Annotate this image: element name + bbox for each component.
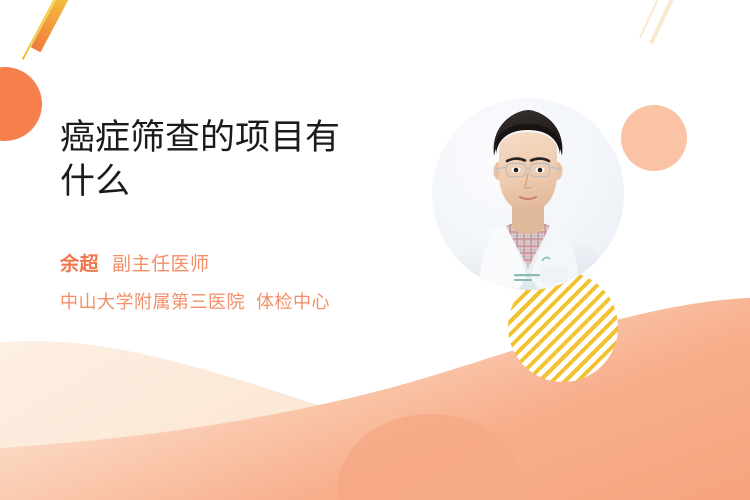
doctor-rank: 副主任医师 xyxy=(112,249,210,276)
cream-stripe-decor-a xyxy=(649,0,676,44)
peach-circle-decor xyxy=(621,105,687,171)
doctor-info-card: 癌症筛查的项目有 什么 余超 副主任医师 中山大学附属第三医院 体检中心 xyxy=(0,0,750,500)
portrait-circle-frame xyxy=(432,98,624,290)
outlined-bar-decor xyxy=(150,361,171,397)
department-name: 体检中心 xyxy=(256,288,330,314)
hospital-name: 中山大学附属第三医院 xyxy=(60,288,245,314)
page-title: 癌症筛查的项目有 什么 xyxy=(60,116,410,204)
portrait-illustration xyxy=(432,98,624,290)
doctor-portrait xyxy=(432,98,624,290)
doctor-name: 余超 xyxy=(60,249,99,276)
orange-diagonal-bar-decor xyxy=(31,0,75,52)
cream-stripe-decor-b xyxy=(639,0,663,38)
doctor-affiliation: 中山大学附属第三医院 体检中心 xyxy=(60,288,330,314)
yellow-thin-line-decor xyxy=(22,0,60,60)
orange-circle-decor xyxy=(0,67,42,141)
bottom-wave-back xyxy=(0,300,750,500)
doctor-byline: 余超 副主任医师 xyxy=(60,249,210,276)
